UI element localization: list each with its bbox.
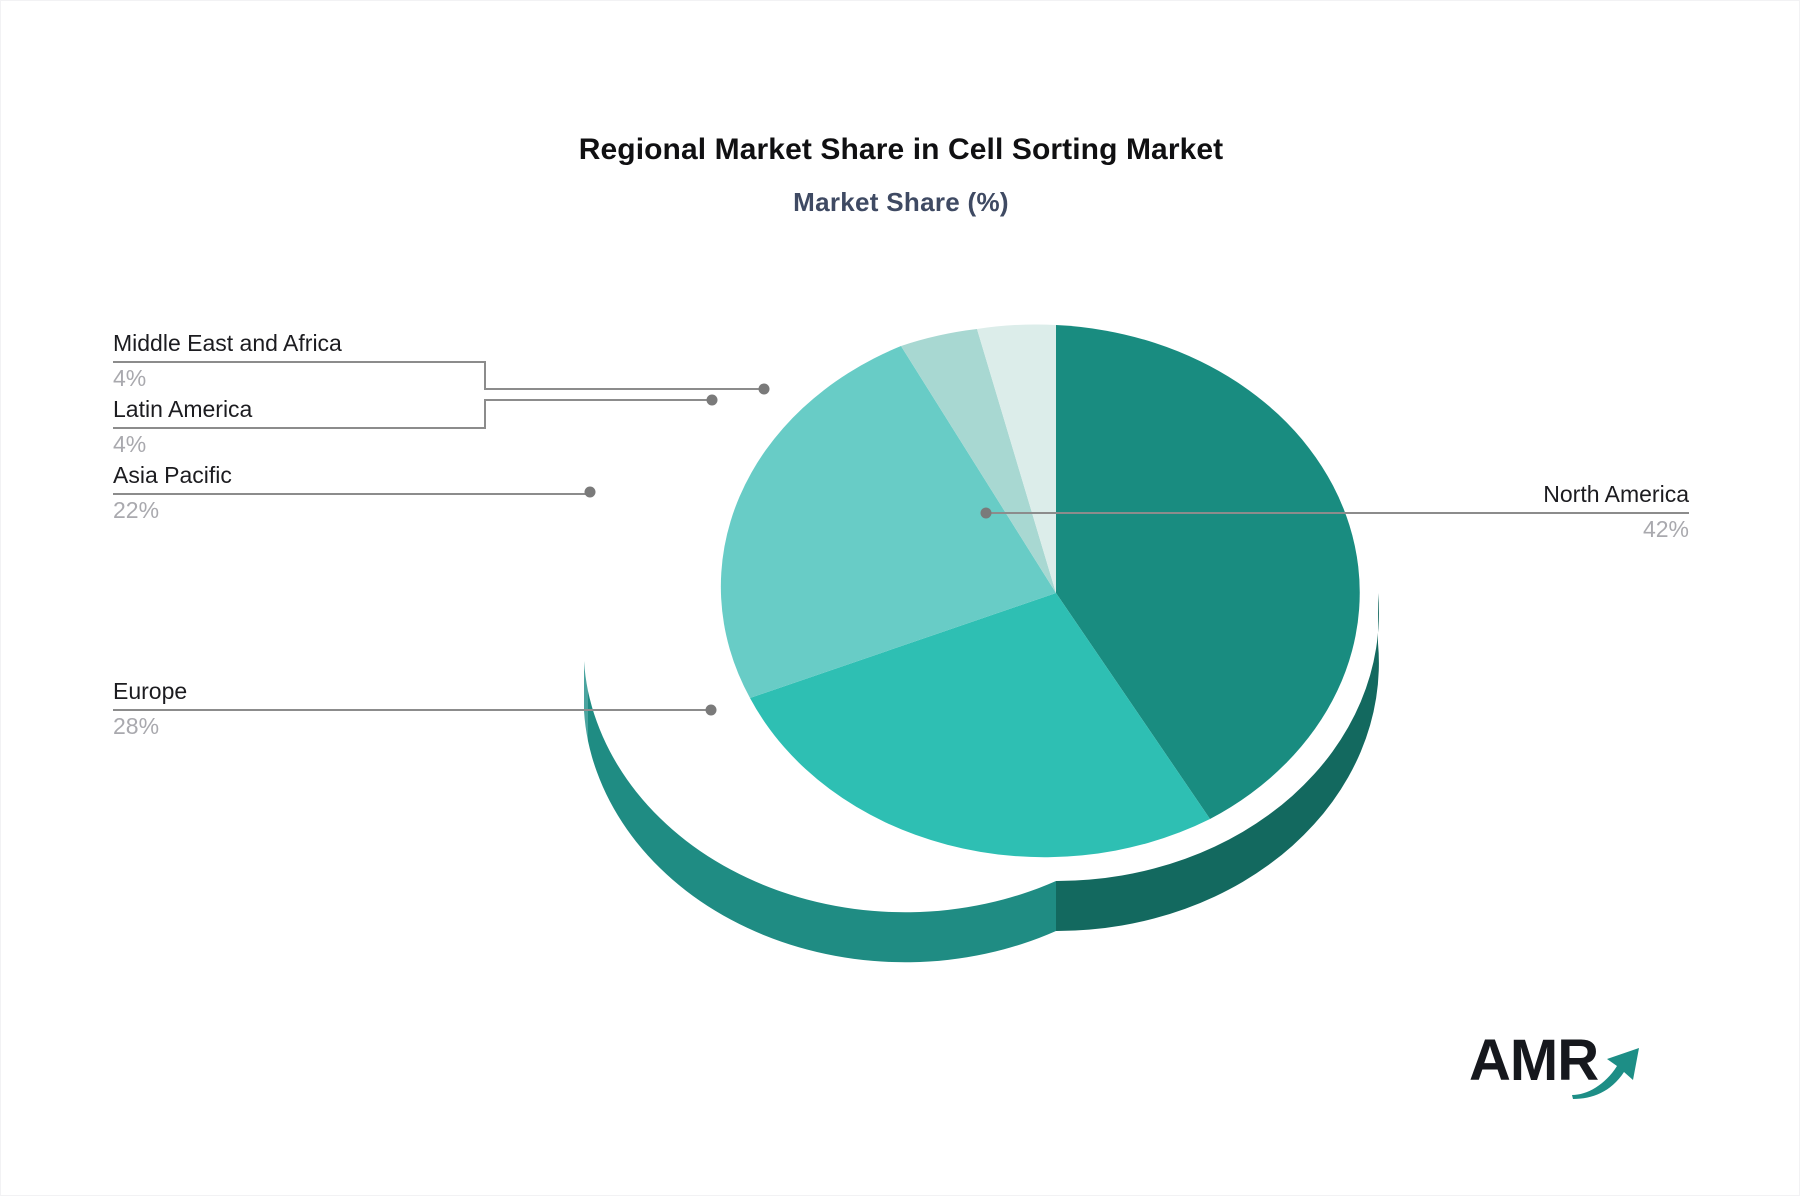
pie-label-middle-east-and-africa[interactable]: Middle East and Africa 4%	[113, 328, 485, 393]
leader-dot-middle-east-and-africa	[759, 384, 770, 395]
pie-chart-plot	[1, 1, 1800, 1196]
pie-label-value-north-america: 42%	[1011, 509, 1689, 544]
pie-label-name-asia-pacific: Asia Pacific	[113, 460, 590, 490]
pie-label-latin-america[interactable]: Latin America 4%	[113, 394, 485, 459]
pie-label-europe[interactable]: Europe 28%	[113, 676, 711, 741]
pie-top-face	[721, 324, 1360, 857]
pie-label-name-north-america: North America	[1011, 479, 1689, 509]
chart-canvas: Regional Market Share in Cell Sorting Ma…	[0, 0, 1800, 1196]
pie-label-name-europe: Europe	[113, 676, 711, 706]
amr-logo: AMR	[1469, 1030, 1641, 1102]
pie-label-value-asia-pacific: 22%	[113, 490, 590, 525]
pie-label-name-latin-america: Latin America	[113, 394, 485, 424]
pie-label-north-america[interactable]: North America 42%	[1011, 479, 1689, 544]
leader-dot-latin-america	[707, 395, 718, 406]
pie-label-asia-pacific[interactable]: Asia Pacific 22%	[113, 460, 590, 525]
growth-arrow-icon	[1571, 1038, 1641, 1100]
pie-label-name-middle-east-and-africa: Middle East and Africa	[113, 328, 485, 358]
pie-label-value-middle-east-and-africa: 4%	[113, 358, 485, 393]
leader-dot-north-america	[981, 508, 992, 519]
pie-label-value-europe: 28%	[113, 706, 711, 741]
pie-label-value-latin-america: 4%	[113, 424, 485, 459]
